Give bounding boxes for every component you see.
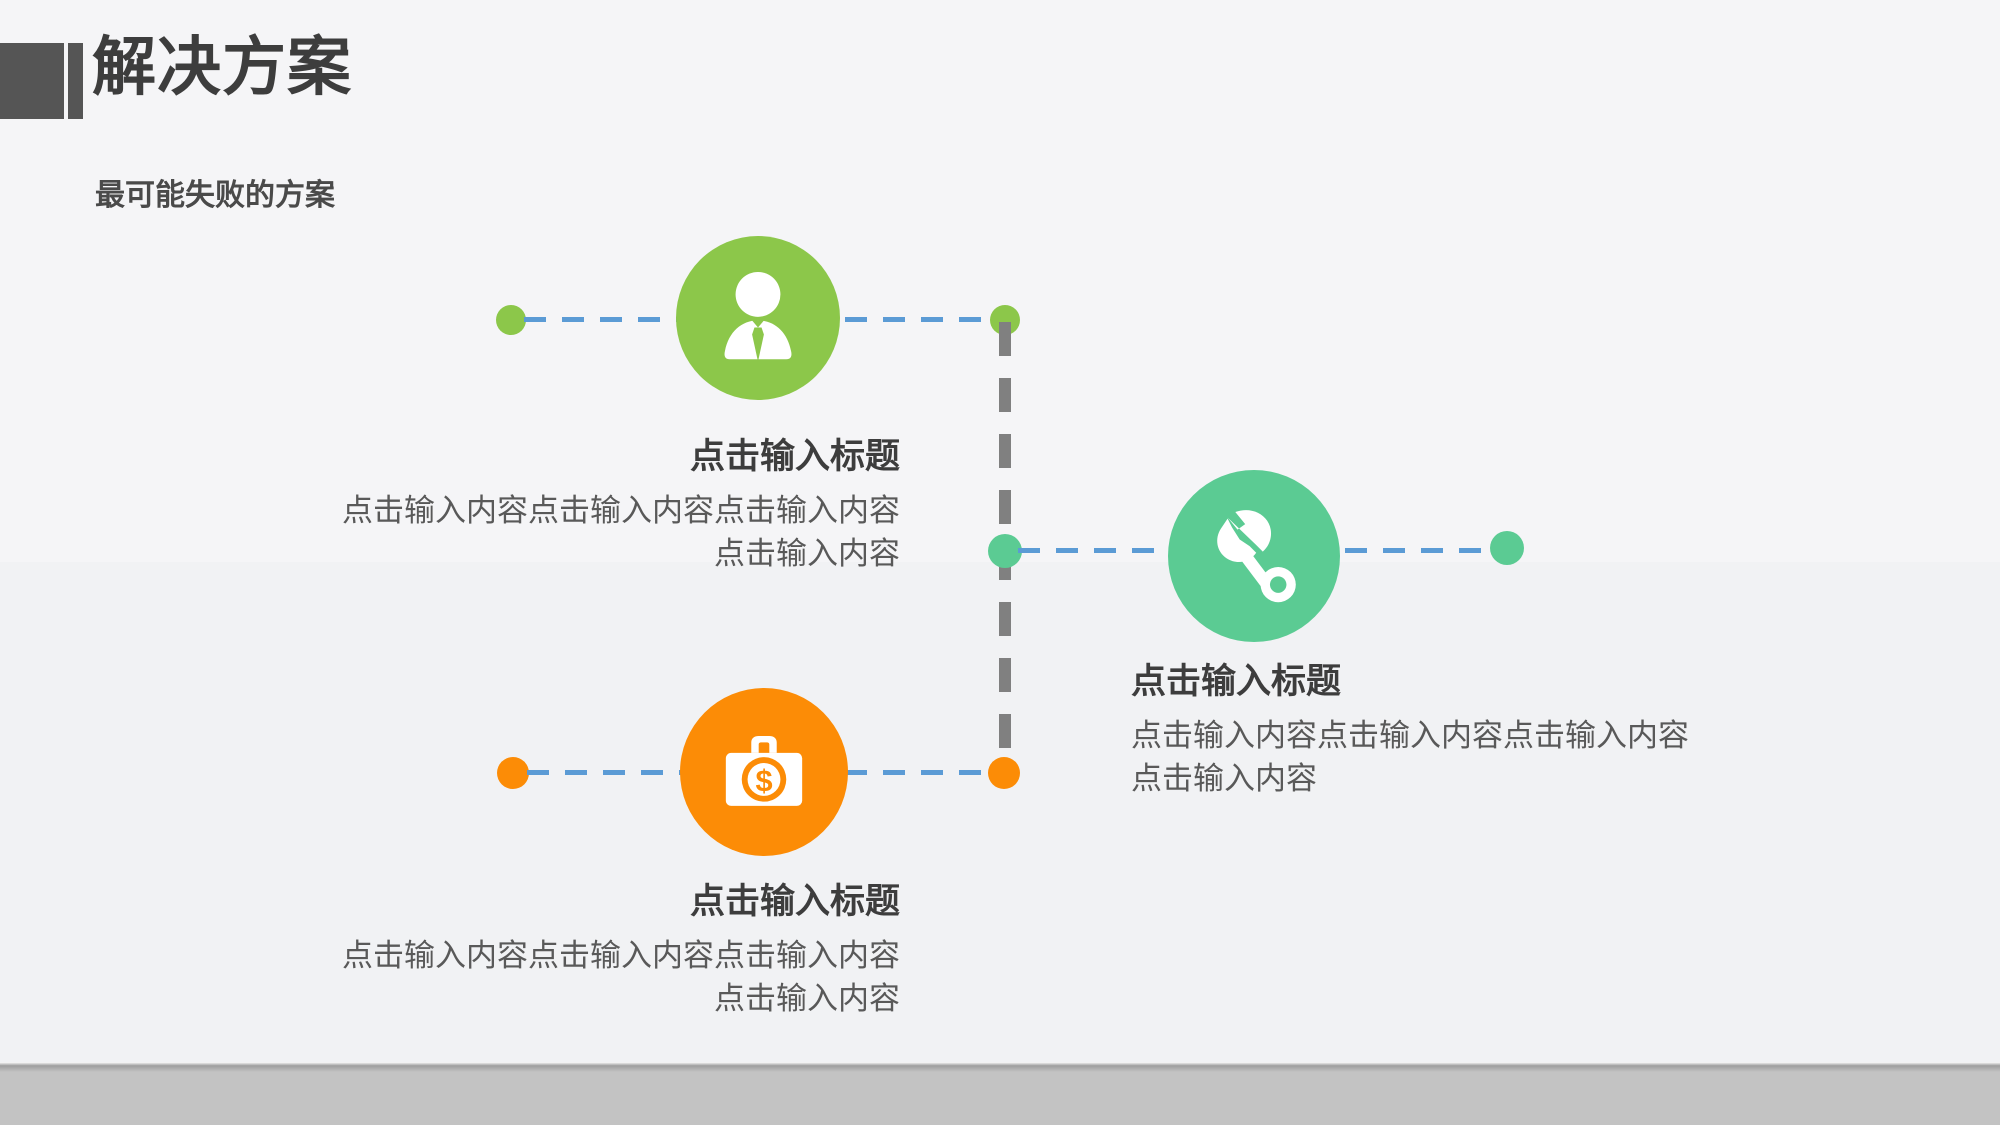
node-wrench-icon-circle[interactable] [1168,470,1340,642]
connector-dash-middle-left [1018,548,1158,553]
footer-bar [0,1062,2000,1125]
title-accent-square [0,43,64,119]
connector-dash-middle-right [1345,548,1493,553]
node-wrench-body: 点击输入内容点击输入内容点击输入内容点击输入内容 [1131,715,1691,801]
svg-text:$: $ [755,763,772,798]
connector-dot-left-bottom[interactable] [497,757,529,789]
node-wrench-title: 点击输入标题 [1131,660,1691,704]
businessman-icon [699,259,817,377]
page-subtitle: 最可能失败的方案 [95,170,335,214]
connector-dash-bottom-left [527,770,681,775]
wrench-icon [1199,501,1309,611]
page-title: 解决方案 [92,31,352,105]
briefcase-dollar-icon: $ [711,719,817,825]
connector-hub-dot-bottom[interactable] [988,757,1020,789]
node-person-title: 点击输入标题 [340,435,900,479]
node-person-text-block: 点击输入标题 点击输入内容点击输入内容点击输入内容点击输入内容 [340,435,900,575]
node-wrench-text-block: 点击输入标题 点击输入内容点击输入内容点击输入内容点击输入内容 [1131,660,1691,800]
connector-dash-top-right [845,317,1005,322]
slide-canvas: 解决方案 最可能失败的方案 点击输入标题 点击输入内容点击输入内容点击输入内容点… [0,0,2000,1125]
connector-dot-right-middle[interactable] [1490,531,1524,565]
connector-dash-top-left [524,317,680,322]
title-accent-bar [68,43,83,119]
node-briefcase-text-block: 点击输入标题 点击输入内容点击输入内容点击输入内容点击输入内容 [340,880,900,1020]
node-briefcase-title: 点击输入标题 [340,880,900,924]
node-person-body: 点击输入内容点击输入内容点击输入内容点击输入内容 [340,490,900,576]
connector-dot-left-top[interactable] [496,305,526,335]
connector-dash-bottom-right [845,770,1003,775]
node-briefcase-icon-circle[interactable]: $ [680,688,848,856]
connector-hub-dot-middle[interactable] [988,534,1022,568]
node-person-icon-circle[interactable] [676,236,840,400]
node-briefcase-body: 点击输入内容点击输入内容点击输入内容点击输入内容 [340,935,900,1021]
